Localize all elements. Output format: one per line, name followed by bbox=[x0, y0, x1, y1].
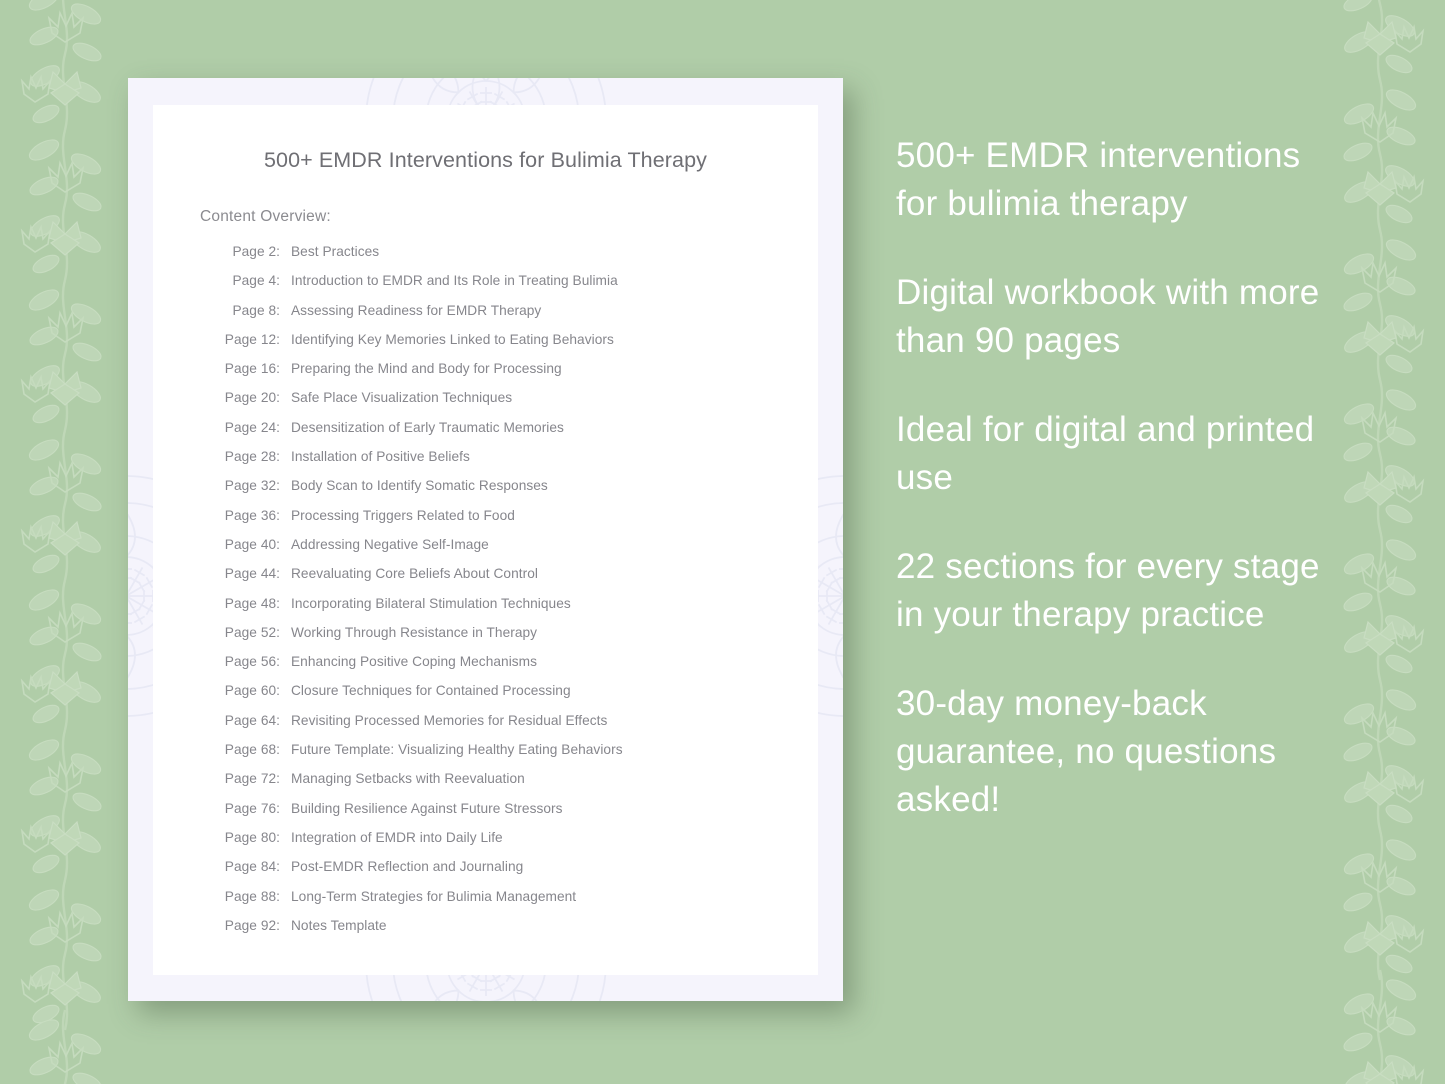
toc-entry-label: Introduction to EMDR and Its Role in Tre… bbox=[291, 273, 618, 288]
promo-block: 30-day money-back guarantee, no question… bbox=[896, 680, 1326, 824]
toc-entry-page: Page 60: bbox=[222, 683, 282, 698]
toc-entry: Page 48:Incorporating Bilateral Stimulat… bbox=[222, 596, 818, 625]
toc-entry-label: Post-EMDR Reflection and Journaling bbox=[291, 859, 523, 874]
toc-entry-label: Body Scan to Identify Somatic Responses bbox=[291, 478, 548, 493]
toc-entry-label: Enhancing Positive Coping Mechanisms bbox=[291, 654, 537, 669]
toc-entry-page: Page 28: bbox=[222, 449, 282, 464]
toc-entry: Page 44:Reevaluating Core Beliefs About … bbox=[222, 566, 818, 595]
toc-entry-page: Page 24: bbox=[222, 420, 282, 435]
toc-entry: Page 88:Long-Term Strategies for Bulimia… bbox=[222, 889, 818, 918]
toc-entry: Page 16:Preparing the Mind and Body for … bbox=[222, 361, 818, 390]
toc-entry: Page 64:Revisiting Processed Memories fo… bbox=[222, 713, 818, 742]
toc-entry-label: Assessing Readiness for EMDR Therapy bbox=[291, 303, 541, 318]
toc-entry-label: Building Resilience Against Future Stres… bbox=[291, 801, 563, 816]
toc-entry-page: Page 76: bbox=[222, 801, 282, 816]
promo-block: Ideal for digital and printed use bbox=[896, 406, 1326, 502]
toc-entry-label: Working Through Resistance in Therapy bbox=[291, 625, 537, 640]
toc-entry-page: Page 56: bbox=[222, 654, 282, 669]
toc-entry-label: Future Template: Visualizing Healthy Eat… bbox=[291, 742, 623, 757]
toc-entry-page: Page 48: bbox=[222, 596, 282, 611]
toc-entry-label: Closure Techniques for Contained Process… bbox=[291, 683, 571, 698]
toc-entry-page: Page 92: bbox=[222, 918, 282, 933]
workbook-page: 500+ EMDR Interventions for Bulimia Ther… bbox=[153, 105, 818, 975]
toc-entry: Page 36:Processing Triggers Related to F… bbox=[222, 508, 818, 537]
content-overview-label: Content Overview: bbox=[153, 208, 818, 226]
toc-entry-page: Page 80: bbox=[222, 830, 282, 845]
toc-entry: Page 8:Assessing Readiness for EMDR Ther… bbox=[222, 303, 818, 332]
toc-entry-page: Page 52: bbox=[222, 625, 282, 640]
table-of-contents: Page 2:Best PracticesPage 4:Introduction… bbox=[153, 244, 818, 947]
toc-entry-page: Page 12: bbox=[222, 332, 282, 347]
workbook-preview-card: 500+ EMDR Interventions for Bulimia Ther… bbox=[128, 78, 843, 1001]
toc-entry: Page 52:Working Through Resistance in Th… bbox=[222, 625, 818, 654]
toc-entry-page: Page 16: bbox=[222, 361, 282, 376]
toc-entry-label: Reevaluating Core Beliefs About Control bbox=[291, 566, 538, 581]
promo-block: Digital workbook with more than 90 pages bbox=[896, 269, 1326, 365]
toc-entry-page: Page 20: bbox=[222, 390, 282, 405]
toc-entry-label: Installation of Positive Beliefs bbox=[291, 449, 470, 464]
toc-entry-label: Revisiting Processed Memories for Residu… bbox=[291, 713, 607, 728]
marketing-copy-column: 500+ EMDR interventions for bulimia ther… bbox=[896, 132, 1326, 824]
toc-entry-page: Page 44: bbox=[222, 566, 282, 581]
toc-entry-label: Managing Setbacks with Reevaluation bbox=[291, 771, 525, 786]
toc-entry-label: Long-Term Strategies for Bulimia Managem… bbox=[291, 889, 576, 904]
floral-vine-border-right bbox=[1315, 0, 1445, 1084]
toc-entry-page: Page 64: bbox=[222, 713, 282, 728]
toc-entry: Page 32:Body Scan to Identify Somatic Re… bbox=[222, 478, 818, 507]
toc-entry-label: Incorporating Bilateral Stimulation Tech… bbox=[291, 596, 571, 611]
toc-entry-label: Notes Template bbox=[291, 918, 387, 933]
toc-entry-label: Identifying Key Memories Linked to Eatin… bbox=[291, 332, 614, 347]
toc-entry-label: Best Practices bbox=[291, 244, 379, 259]
toc-entry: Page 24:Desensitization of Early Traumat… bbox=[222, 420, 818, 449]
toc-entry-page: Page 8: bbox=[222, 303, 282, 318]
toc-entry: Page 4:Introduction to EMDR and Its Role… bbox=[222, 273, 818, 302]
toc-entry: Page 68:Future Template: Visualizing Hea… bbox=[222, 742, 818, 771]
toc-entry-label: Safe Place Visualization Techniques bbox=[291, 390, 512, 405]
toc-entry-page: Page 36: bbox=[222, 508, 282, 523]
toc-entry-page: Page 40: bbox=[222, 537, 282, 552]
toc-entry-label: Processing Triggers Related to Food bbox=[291, 508, 515, 523]
page-title: 500+ EMDR Interventions for Bulimia Ther… bbox=[153, 146, 818, 175]
toc-entry: Page 60:Closure Techniques for Contained… bbox=[222, 683, 818, 712]
toc-entry-page: Page 32: bbox=[222, 478, 282, 493]
toc-entry: Page 92:Notes Template bbox=[222, 918, 818, 947]
toc-entry-label: Integration of EMDR into Daily Life bbox=[291, 830, 503, 845]
toc-entry: Page 20:Safe Place Visualization Techniq… bbox=[222, 390, 818, 419]
toc-entry-label: Addressing Negative Self-Image bbox=[291, 537, 489, 552]
toc-entry: Page 84:Post-EMDR Reflection and Journal… bbox=[222, 859, 818, 888]
toc-entry: Page 80:Integration of EMDR into Daily L… bbox=[222, 830, 818, 859]
toc-entry: Page 56:Enhancing Positive Coping Mechan… bbox=[222, 654, 818, 683]
toc-entry-page: Page 68: bbox=[222, 742, 282, 757]
floral-vine-border-left bbox=[0, 0, 130, 1084]
toc-entry: Page 40:Addressing Negative Self-Image bbox=[222, 537, 818, 566]
toc-entry: Page 76:Building Resilience Against Futu… bbox=[222, 801, 818, 830]
toc-entry-label: Preparing the Mind and Body for Processi… bbox=[291, 361, 562, 376]
toc-entry-page: Page 2: bbox=[222, 244, 282, 259]
toc-entry: Page 2:Best Practices bbox=[222, 244, 818, 273]
toc-entry-page: Page 4: bbox=[222, 273, 282, 288]
toc-entry-page: Page 84: bbox=[222, 859, 282, 874]
toc-entry-page: Page 88: bbox=[222, 889, 282, 904]
toc-entry: Page 12:Identifying Key Memories Linked … bbox=[222, 332, 818, 361]
promo-block: 500+ EMDR interventions for bulimia ther… bbox=[896, 132, 1326, 228]
toc-entry-page: Page 72: bbox=[222, 771, 282, 786]
promo-block: 22 sections for every stage in your ther… bbox=[896, 543, 1326, 639]
toc-entry: Page 28:Installation of Positive Beliefs bbox=[222, 449, 818, 478]
promotional-graphic: 500+ EMDR Interventions for Bulimia Ther… bbox=[0, 0, 1445, 1084]
toc-entry: Page 72:Managing Setbacks with Reevaluat… bbox=[222, 771, 818, 800]
toc-entry-label: Desensitization of Early Traumatic Memor… bbox=[291, 420, 564, 435]
